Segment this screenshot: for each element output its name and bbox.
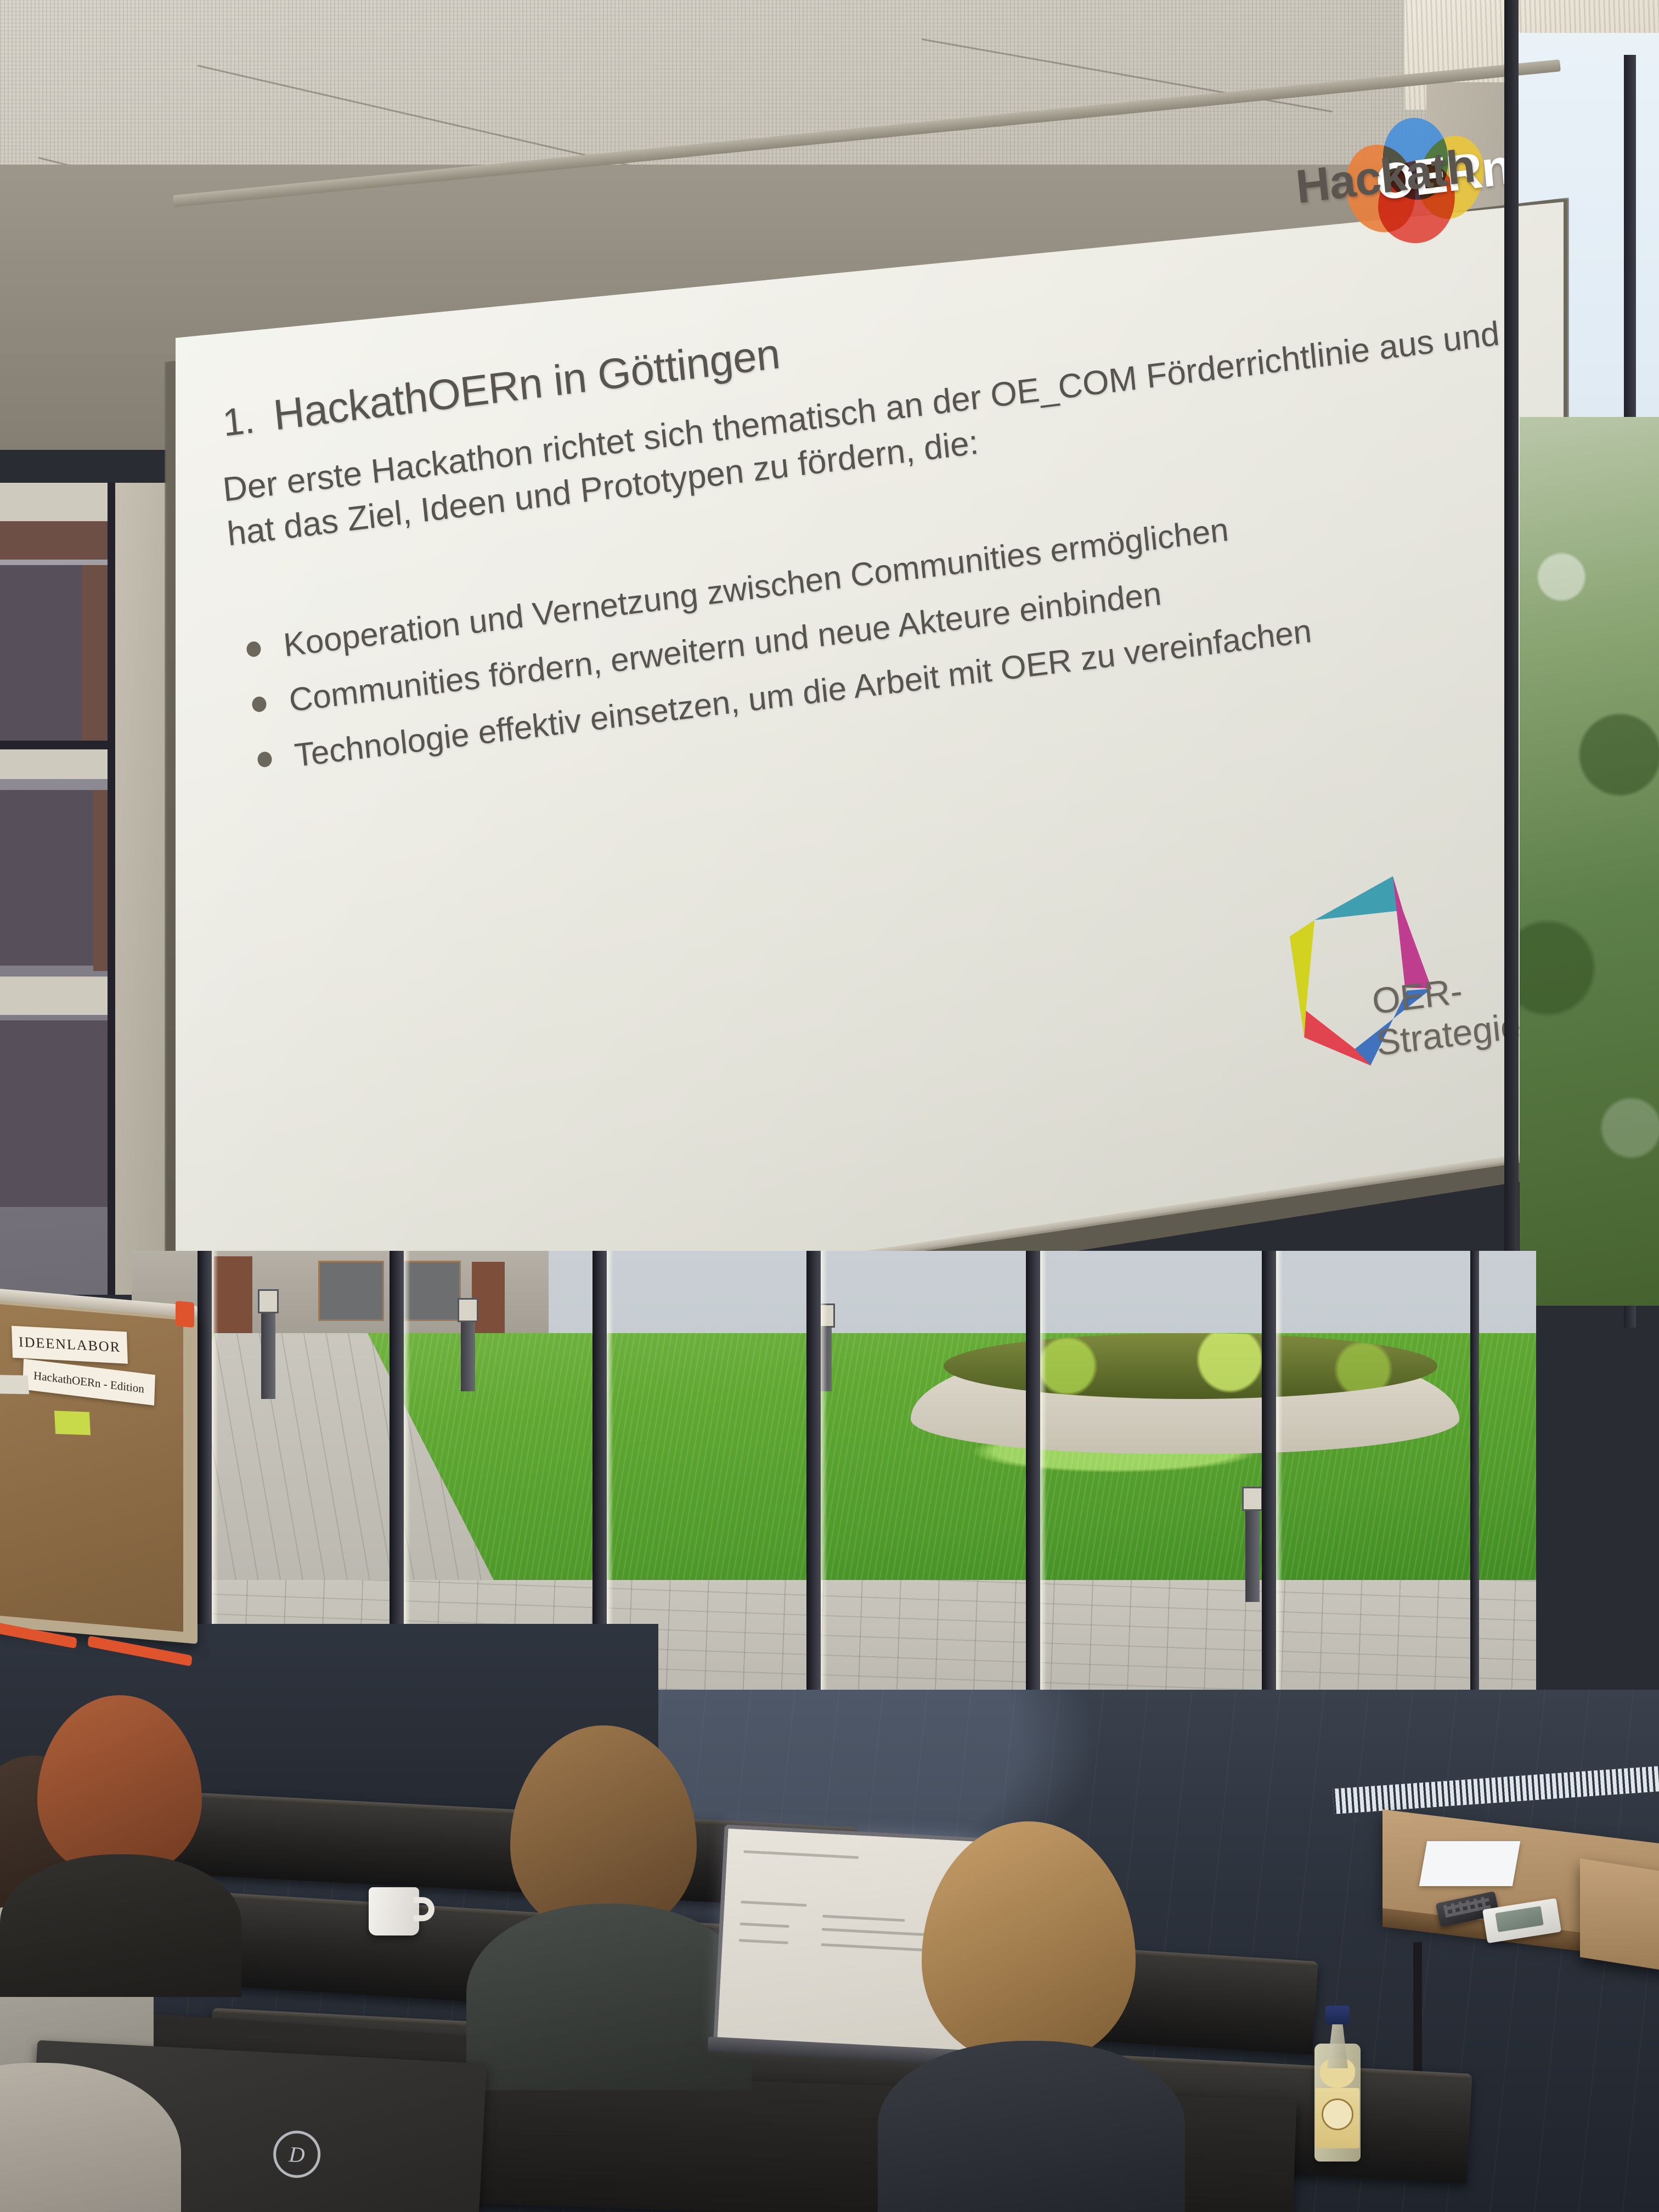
glass-sheen [821, 1251, 827, 1745]
pinboard-label-tag [0, 1375, 29, 1394]
coffee-mug[interactable] [369, 1887, 419, 1936]
slide-title-number: 1. [221, 397, 256, 445]
path-bollard [461, 1298, 475, 1391]
path-bollard [1245, 1487, 1260, 1602]
window-mullion-right [1504, 0, 1519, 1339]
window-mullion [806, 1251, 821, 1745]
path-bollard [261, 1289, 275, 1399]
bottle-neck [1327, 2019, 1348, 2068]
club-mate-bottle[interactable] [1311, 1997, 1364, 2162]
pinboard: IDEENLABOR HackathOERn - Edition [0, 1296, 198, 1644]
audience-shoulders [466, 1904, 752, 2090]
lectern-leg [1413, 1942, 1422, 2074]
hackathoern-logo: Hackath OERn [1291, 110, 1486, 242]
pinboard-rail-cap [176, 1301, 194, 1328]
glass-sheen [1276, 1251, 1283, 1745]
window-mullion [1262, 1251, 1276, 1745]
projection-screen-area: Hackath OERn 1. HackathOERn in Göttingen… [0, 0, 1659, 1426]
bottle-cap [1325, 2006, 1350, 2024]
glass-sheen [1040, 1251, 1047, 1745]
dell-logo-icon: D [272, 2130, 321, 2179]
bottle-label [1316, 2088, 1359, 2148]
presentation-slide: Hackath OERn 1. HackathOERn in Göttingen… [181, 69, 1646, 1273]
lectern-side-box [1580, 1858, 1659, 1971]
audience-shoulders [0, 1854, 241, 1997]
window-mullion [1470, 1251, 1479, 1745]
window-mullion [1026, 1251, 1040, 1745]
lectern-paper [1419, 1841, 1520, 1886]
planter-vegetation [944, 1333, 1437, 1399]
photo-scene: Hackath OERn 1. HackathOERn in Göttingen… [0, 0, 1659, 2212]
audience-shoulders [878, 2041, 1185, 2212]
outdoor-trees-right [1520, 417, 1659, 1306]
pinboard-sticky-note [54, 1410, 91, 1435]
pinboard-note-ideenlabor: IDEENLABOR [12, 1326, 128, 1364]
